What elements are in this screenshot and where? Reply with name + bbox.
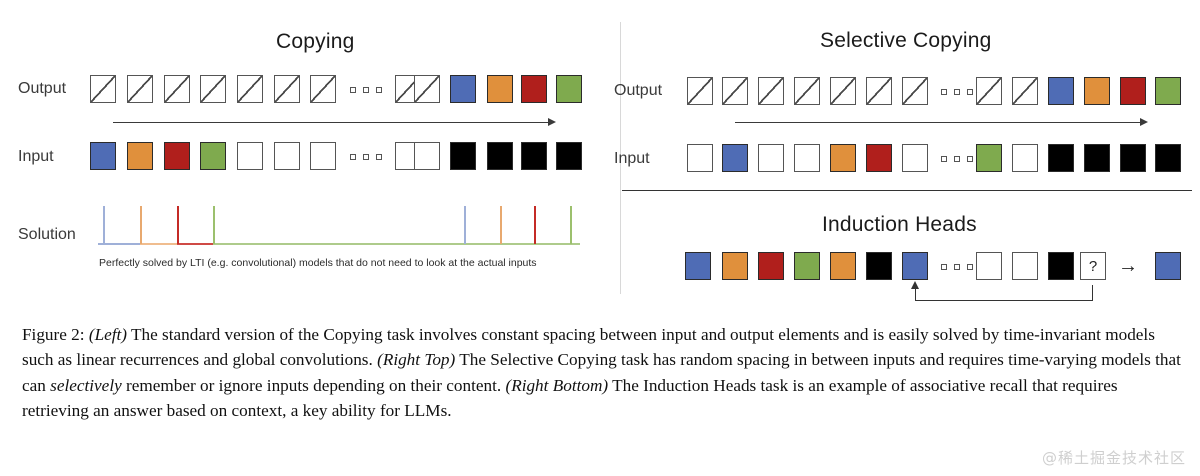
copying-flow-arrow-line xyxy=(113,122,550,123)
copying-output-cell-blue xyxy=(450,75,476,103)
solution-baseline-orange xyxy=(140,243,179,245)
ellipsis-dot xyxy=(376,87,382,93)
ellipsis-dot xyxy=(954,264,960,270)
induction-cell-orange xyxy=(722,252,748,280)
solution-spike-blue xyxy=(464,206,466,244)
selective-output-cell xyxy=(976,77,1002,105)
ellipsis-dot xyxy=(967,89,973,95)
ellipsis-dot xyxy=(954,89,960,95)
induction-ellipsis xyxy=(941,264,973,270)
selective-input-ellipsis xyxy=(941,156,973,162)
selective-output-cell-red xyxy=(1120,77,1146,105)
ellipsis-dot xyxy=(967,264,973,270)
selective-output-cell xyxy=(687,77,713,105)
copying-input-cell-blank xyxy=(310,142,336,170)
solution-spike-red xyxy=(177,206,179,244)
selective-flow-arrow-head xyxy=(1140,118,1148,126)
copying-output-cell xyxy=(310,75,336,103)
induction-cell-blue xyxy=(685,252,711,280)
solution-spike-orange xyxy=(500,206,502,244)
selective-output-cell xyxy=(902,77,928,105)
selective-copying-panel-title: Selective Copying xyxy=(820,29,992,53)
ellipsis-dot xyxy=(941,264,947,270)
induction-cell-black xyxy=(866,252,892,280)
copying-input-cell-black xyxy=(450,142,476,170)
selective-output-cell xyxy=(830,77,856,105)
solution-baseline-red xyxy=(177,243,215,245)
selective-input-row-label: Input xyxy=(614,150,650,168)
selective-output-cell xyxy=(722,77,748,105)
copying-input-cell-orange xyxy=(127,142,153,170)
ellipsis-dot xyxy=(363,154,369,160)
copying-input-cell-blue xyxy=(90,142,116,170)
selective-output-cell xyxy=(1012,77,1038,105)
induction-cell-question: ? xyxy=(1080,252,1106,280)
induction-result-arrow: → xyxy=(1118,256,1138,276)
selective-output-ellipsis xyxy=(941,89,973,95)
induction-cell-green xyxy=(794,252,820,280)
solution-spike-red xyxy=(534,206,536,244)
copying-output-cell xyxy=(200,75,226,103)
caption-text-run: Figure 2: (Left) The standard version of… xyxy=(22,325,1181,420)
induction-recall-hook xyxy=(915,285,1093,301)
selective-input-cell-blank xyxy=(794,144,820,172)
selective-input-cell-blank xyxy=(687,144,713,172)
selective-input-cell-blank xyxy=(758,144,784,172)
ellipsis-dot xyxy=(350,154,356,160)
solution-baseline-green xyxy=(213,243,580,245)
induction-heads-panel-title: Induction Heads xyxy=(822,213,977,237)
solution-spike-green xyxy=(570,206,572,244)
figure-caption: Figure 2: (Left) The standard version of… xyxy=(22,322,1182,424)
induction-cell-blank xyxy=(1012,252,1038,280)
ellipsis-dot xyxy=(376,154,382,160)
selective-input-cell-blue xyxy=(722,144,748,172)
ellipsis-dot xyxy=(350,87,356,93)
copying-output-cell-orange xyxy=(487,75,513,103)
selective-flow-arrow-line xyxy=(735,122,1142,123)
ellipsis-dot xyxy=(941,156,947,162)
ellipsis-dot xyxy=(941,89,947,95)
right-panels-divider xyxy=(622,190,1192,191)
copying-input-row-label: Input xyxy=(18,148,54,166)
ellipsis-dot xyxy=(363,87,369,93)
induction-cell-blue-target xyxy=(902,252,928,280)
copying-output-cell-green xyxy=(556,75,582,103)
copying-input-cell-green xyxy=(200,142,226,170)
solution-spike-plot xyxy=(0,0,600,60)
copying-flow-arrow-head xyxy=(548,118,556,126)
selective-output-cell-orange xyxy=(1084,77,1110,105)
induction-cell-black xyxy=(1048,252,1074,280)
selective-input-cell-red xyxy=(866,144,892,172)
induction-result-cell-blue xyxy=(1155,252,1181,280)
induction-cell-orange xyxy=(830,252,856,280)
selective-output-cell xyxy=(758,77,784,105)
selective-output-row-label: Output xyxy=(614,82,662,100)
copying-input-cell-blank xyxy=(274,142,300,170)
selective-input-cell-blank xyxy=(902,144,928,172)
copying-output-cell xyxy=(414,75,440,103)
copying-solution-row-label: Solution xyxy=(18,226,76,244)
selective-input-cell-orange xyxy=(830,144,856,172)
figure-panels: Copying Output Input Solution xyxy=(0,0,1200,318)
copying-output-cell xyxy=(90,75,116,103)
copying-output-cell xyxy=(237,75,263,103)
selective-output-cell xyxy=(866,77,892,105)
selective-input-cell-black xyxy=(1048,144,1074,172)
solution-spike-orange xyxy=(140,206,142,244)
copying-input-cell-black xyxy=(556,142,582,170)
induction-recall-arrow-head xyxy=(911,281,919,289)
copying-output-cell-red xyxy=(521,75,547,103)
selective-input-cell-green xyxy=(976,144,1002,172)
copying-output-ellipsis xyxy=(350,87,382,93)
induction-cell-blank xyxy=(976,252,1002,280)
copying-input-cell-blank xyxy=(237,142,263,170)
copying-input-cell-red xyxy=(164,142,190,170)
copying-output-cell xyxy=(164,75,190,103)
copying-output-row-label: Output xyxy=(18,80,66,98)
selective-input-cell-black xyxy=(1155,144,1181,172)
selective-output-cell-blue xyxy=(1048,77,1074,105)
solution-spike-green xyxy=(213,206,215,244)
copying-input-ellipsis xyxy=(350,154,382,160)
copying-input-cell-blank xyxy=(414,142,440,170)
selective-input-cell-black xyxy=(1084,144,1110,172)
ellipsis-dot xyxy=(954,156,960,162)
solution-spike-blue xyxy=(103,206,105,244)
copying-output-cell xyxy=(274,75,300,103)
copying-output-cell xyxy=(127,75,153,103)
induction-cell-red xyxy=(758,252,784,280)
copying-input-cell-black xyxy=(521,142,547,170)
ellipsis-dot xyxy=(967,156,973,162)
selective-input-cell-black xyxy=(1120,144,1146,172)
copying-input-cell-black xyxy=(487,142,513,170)
selective-output-cell xyxy=(794,77,820,105)
selective-output-cell-green xyxy=(1155,77,1181,105)
selective-input-cell-blank xyxy=(1012,144,1038,172)
watermark: @稀土掘金技术社区 xyxy=(1042,447,1186,468)
solution-note: Perfectly solved by LTI (e.g. convolutio… xyxy=(99,257,537,269)
